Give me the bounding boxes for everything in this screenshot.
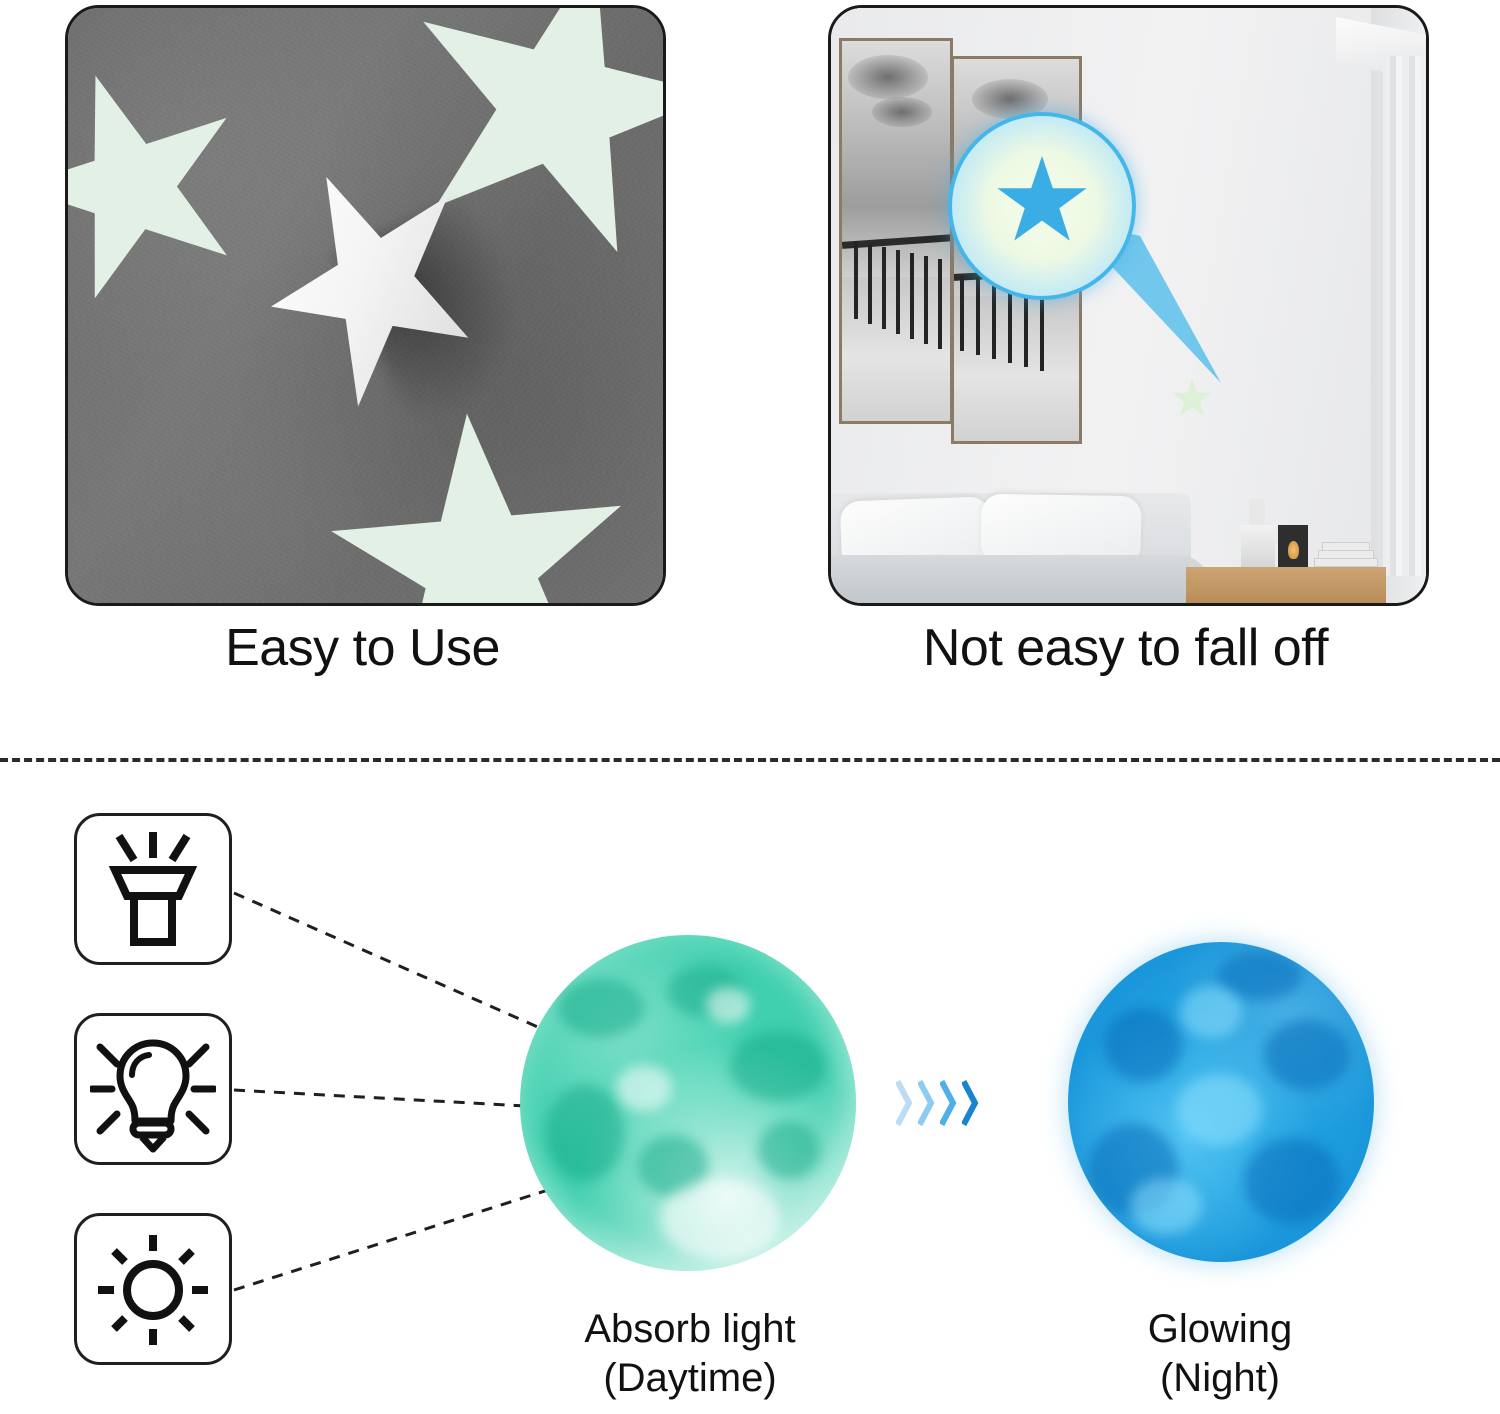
moon-crater <box>1104 1008 1182 1082</box>
art-piling <box>992 279 996 359</box>
candle-glow <box>1288 541 1299 559</box>
art-piling <box>854 241 858 319</box>
art-piling <box>896 250 900 334</box>
chevron-right-icon-3 <box>940 1080 957 1126</box>
book <box>1322 542 1370 551</box>
curtain <box>1383 56 1427 576</box>
caption-glowing: Glowing (Night) <box>1040 1305 1400 1403</box>
top-section: Easy to Use Not easy to fall off <box>0 0 1500 760</box>
moon-glowing <box>1068 942 1374 1262</box>
magnified-blue-star-icon <box>996 156 1088 248</box>
light-bulb-icon <box>90 1027 216 1153</box>
moon-crater <box>1264 1020 1350 1090</box>
magnifier-circle <box>948 112 1136 300</box>
art-cloud <box>848 55 928 99</box>
moon-highlight <box>706 987 750 1023</box>
art-piling <box>938 259 942 349</box>
moon-highlight <box>1176 1074 1262 1146</box>
light-bulb-icon-box[interactable] <box>74 1013 232 1165</box>
table-lamp <box>1241 525 1275 567</box>
bedroom-scene <box>831 8 1426 603</box>
caption-not-easy-to-fall-off: Not easy to fall off <box>828 618 1423 678</box>
sun-icon-box[interactable] <box>74 1213 232 1365</box>
moon-crater <box>546 1085 624 1181</box>
nightstand <box>1186 567 1386 603</box>
art-cloud <box>872 97 932 127</box>
chevron-right-icon-1 <box>896 1080 913 1126</box>
moon-crater <box>1244 1138 1340 1224</box>
table-lamp-top <box>1249 499 1265 525</box>
moon-crater <box>758 1121 820 1179</box>
moon-crater <box>730 1031 826 1101</box>
caption-easy-to-use: Easy to Use <box>65 618 660 678</box>
art-piling <box>924 256 928 344</box>
art-sand <box>954 296 1079 441</box>
book <box>1318 550 1374 559</box>
sun-icon <box>94 1233 212 1347</box>
chevron-right-icon-4 <box>962 1080 979 1126</box>
flashlight-icon-box[interactable] <box>74 813 232 965</box>
transition-chevrons <box>896 1080 979 1126</box>
moon-highlight <box>616 1065 672 1111</box>
caption-absorb-light: Absorb light (Daytime) <box>500 1305 880 1403</box>
chevron-right-icon-2 <box>918 1080 935 1126</box>
duvet <box>828 555 1209 603</box>
art-piling <box>976 277 980 355</box>
moon-highlight <box>1180 986 1242 1038</box>
moon-highlight <box>1130 1178 1202 1234</box>
moon-crater <box>558 979 644 1037</box>
moon-absorb-light <box>520 935 856 1271</box>
art-piling <box>868 244 872 324</box>
book <box>1314 558 1378 567</box>
art-piling <box>910 253 914 339</box>
photo-card-not-easy-to-fall-off <box>828 5 1429 606</box>
flashlight-icon <box>93 830 213 948</box>
photo-card-easy-to-use <box>65 5 666 606</box>
bottom-section: Absorb light (Daytime) Glowing (Night) <box>0 760 1500 1414</box>
art-piling <box>882 247 886 329</box>
wall-art-left-panel <box>839 38 953 424</box>
moon-highlight <box>660 1179 780 1259</box>
art-piling <box>960 275 964 351</box>
